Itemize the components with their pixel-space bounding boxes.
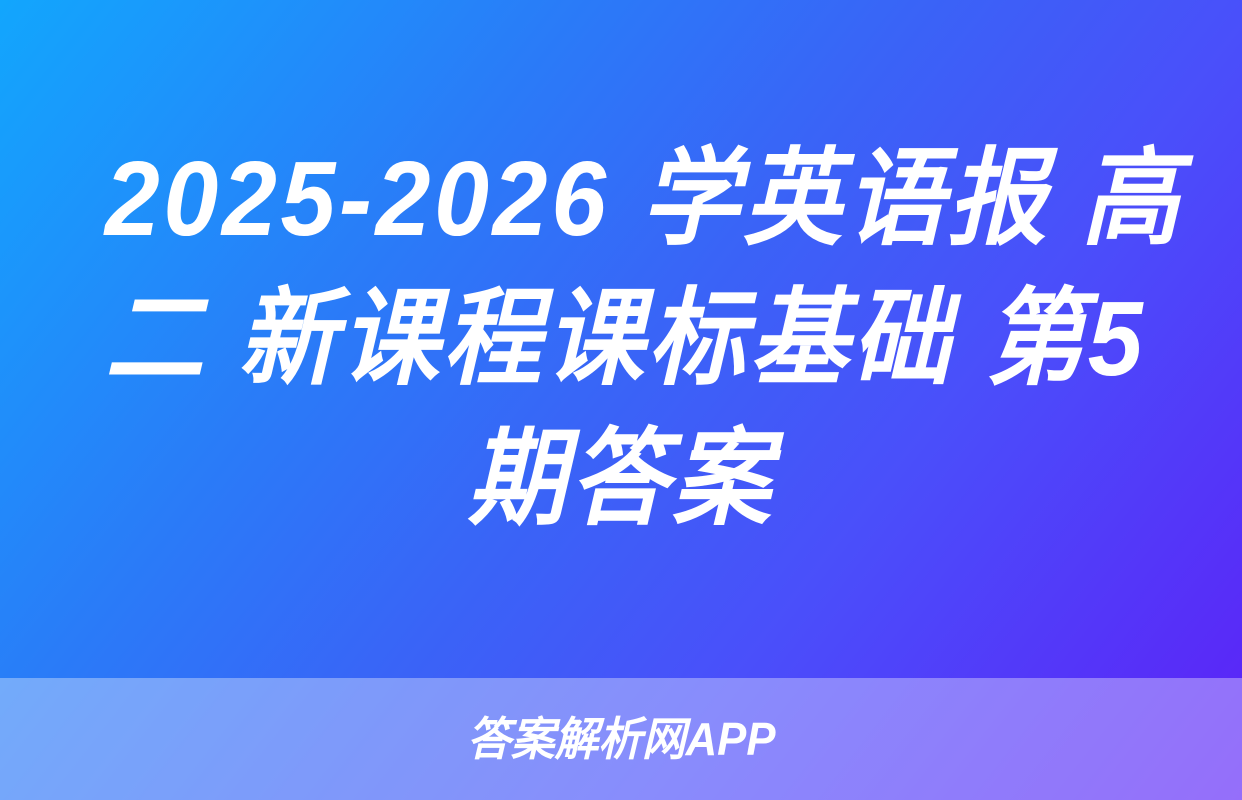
app-brand-label: 答案解析网APP — [467, 716, 775, 762]
poster-title: 2025-2026 学英语报 高 二 新课程课标基础 第5 期答案 — [0, 0, 1242, 678]
poster-canvas: 2025-2026 学英语报 高 二 新课程课标基础 第5 期答案 答案解析网A… — [0, 0, 1242, 800]
title-line-2: 二 新课程课标基础 第5 — [105, 269, 1137, 409]
title-line-3: 期答案 — [105, 409, 1137, 549]
title-line-1: 2025-2026 学英语报 高 — [105, 129, 1137, 269]
footer-band: 答案解析网APP — [0, 678, 1242, 800]
